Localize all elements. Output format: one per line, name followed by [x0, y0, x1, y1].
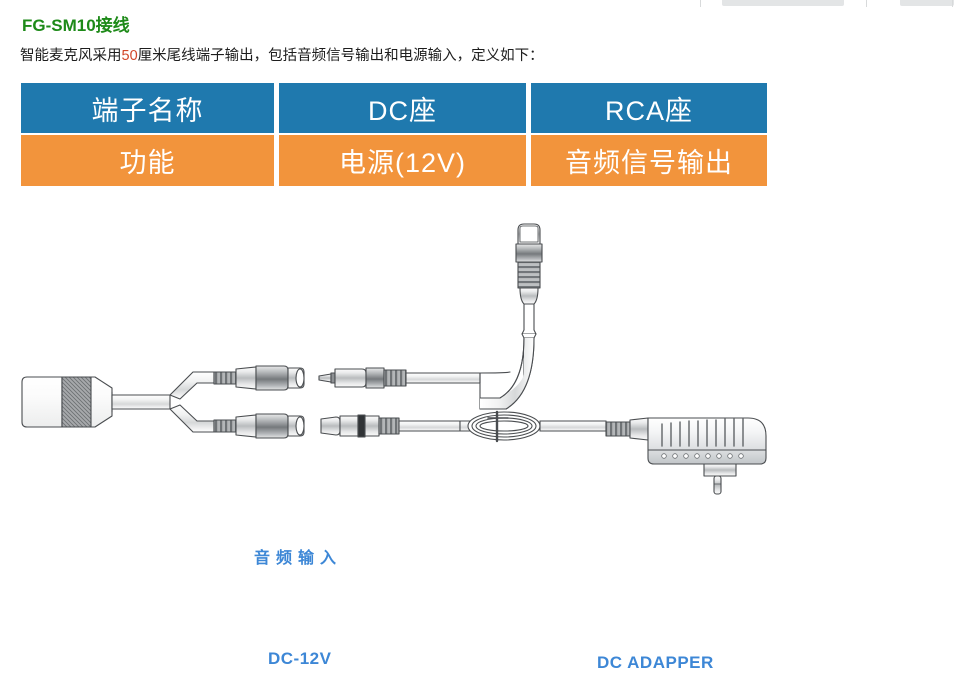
section-paragraph: 智能麦克风采用50厘米尾线端子输出，包括音频信号输出和电源输入，定义如下： — [20, 46, 544, 66]
paragraph-before: 智能麦克风采用 — [20, 48, 122, 64]
chrome-divider-1 — [700, 0, 701, 7]
table-header-dc-jack: DC座 — [279, 83, 526, 133]
table-cell-audio-out: 音频信号输出 — [531, 135, 767, 186]
trunk-cable — [112, 395, 170, 409]
paragraph-number: 50 — [122, 48, 138, 64]
label-audio-input: 音频输入 — [254, 544, 342, 568]
terminal-spec-table: 端子名称 DC座 RCA座 功能 电源(12V) 音频信号输出 — [21, 83, 767, 187]
label-dc-12v: DC-12V — [268, 649, 331, 669]
table-header-rca-jack: RCA座 — [531, 83, 767, 133]
chrome-divider-2 — [866, 0, 867, 7]
label-dc-adapter: DC ADAPPER — [597, 653, 714, 673]
chrome-box-1 — [722, 0, 844, 6]
microphone-connector — [22, 377, 112, 427]
table-cell-function: 功能 — [21, 135, 274, 186]
coiled-cable-bundle — [460, 412, 606, 441]
y-splitter — [170, 372, 214, 432]
dc-power-adapter — [606, 418, 766, 494]
male-plug-audio — [319, 368, 480, 388]
section-heading: FG-SM10接线 — [22, 16, 130, 36]
top-chrome-strip — [0, 0, 954, 14]
table-body-row: 功能 电源(12V) 音频信号输出 — [21, 133, 767, 186]
table-cell-power: 电源(12V) — [279, 135, 526, 186]
wiring-diagram-svg — [0, 196, 954, 502]
male-plug-dc — [321, 415, 460, 437]
chrome-divider-3 — [952, 0, 953, 7]
female-connector-dc — [214, 414, 304, 438]
table-header-terminal-name: 端子名称 — [21, 83, 274, 133]
female-connector-audio — [214, 366, 304, 390]
wiring-diagram: 音频输入 DC-12V DC ADAPPER — [0, 196, 954, 502]
table-header-row: 端子名称 DC座 RCA座 — [21, 83, 767, 133]
vertical-audio-plug — [480, 224, 542, 409]
chrome-box-2 — [900, 0, 954, 6]
paragraph-after: 厘米尾线端子输出，包括音频信号输出和电源输入，定义如下： — [138, 48, 544, 64]
